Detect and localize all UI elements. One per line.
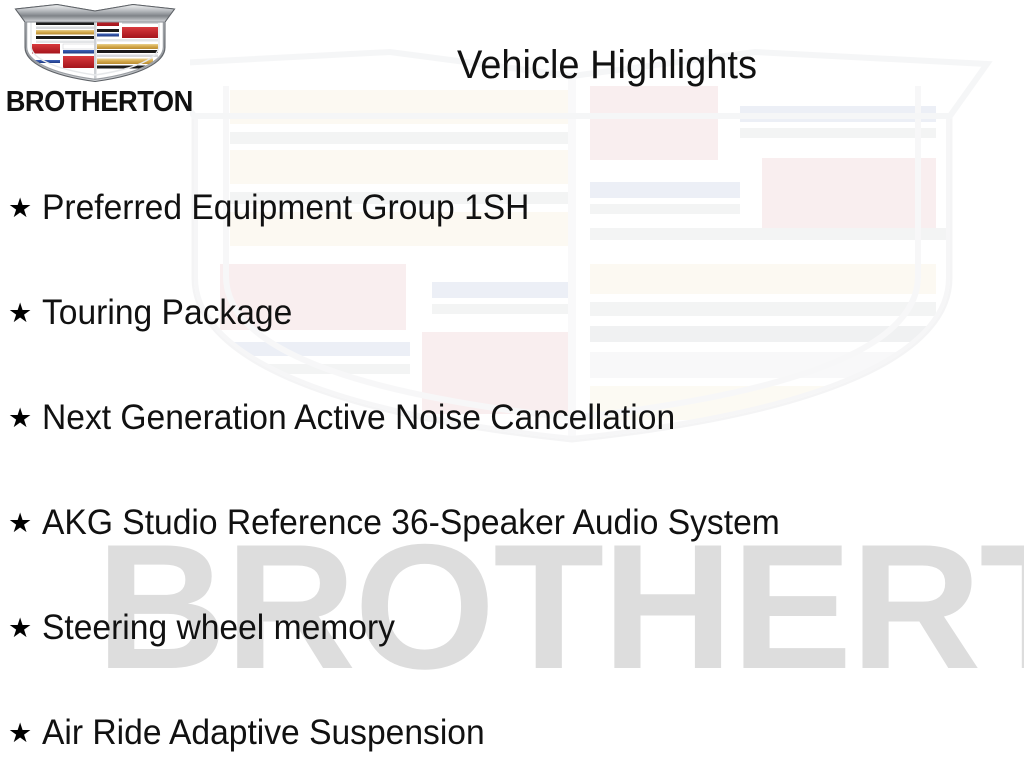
list-item-label: Next Generation Active Noise Cancellatio… bbox=[42, 398, 675, 438]
star-bullet-icon: ★ bbox=[8, 298, 42, 328]
dealer-logo: BROTHERTON bbox=[0, 0, 190, 129]
list-item-label: Preferred Equipment Group 1SH bbox=[42, 188, 529, 228]
list-item: ★ Steering wheel memory bbox=[0, 575, 1024, 680]
list-item-label: Air Ride Adaptive Suspension bbox=[42, 713, 485, 753]
list-item: ★ AKG Studio Reference 36-Speaker Audio … bbox=[0, 470, 1024, 575]
list-item-label: Steering wheel memory bbox=[42, 608, 395, 648]
star-bullet-icon: ★ bbox=[8, 718, 42, 748]
highlights-list: ★ Preferred Equipment Group 1SH ★ Tourin… bbox=[0, 155, 1024, 768]
page-title: Vehicle Highlights bbox=[211, 40, 1003, 90]
cadillac-crest-icon bbox=[14, 4, 176, 82]
star-bullet-icon: ★ bbox=[8, 508, 42, 538]
star-bullet-icon: ★ bbox=[8, 613, 42, 643]
vehicle-highlights-slide: BROTHERTON bbox=[0, 0, 1024, 768]
dealer-name: BROTHERTON bbox=[6, 86, 185, 118]
star-bullet-icon: ★ bbox=[8, 193, 42, 223]
list-item: ★ Air Ride Adaptive Suspension bbox=[0, 680, 1024, 768]
list-item: ★ Touring Package bbox=[0, 260, 1024, 365]
star-bullet-icon: ★ bbox=[8, 403, 42, 433]
list-item-label: AKG Studio Reference 36-Speaker Audio Sy… bbox=[42, 503, 780, 543]
list-item: ★ Preferred Equipment Group 1SH bbox=[0, 155, 1024, 260]
list-item: ★ Next Generation Active Noise Cancellat… bbox=[0, 365, 1024, 470]
list-item-label: Touring Package bbox=[42, 293, 292, 333]
